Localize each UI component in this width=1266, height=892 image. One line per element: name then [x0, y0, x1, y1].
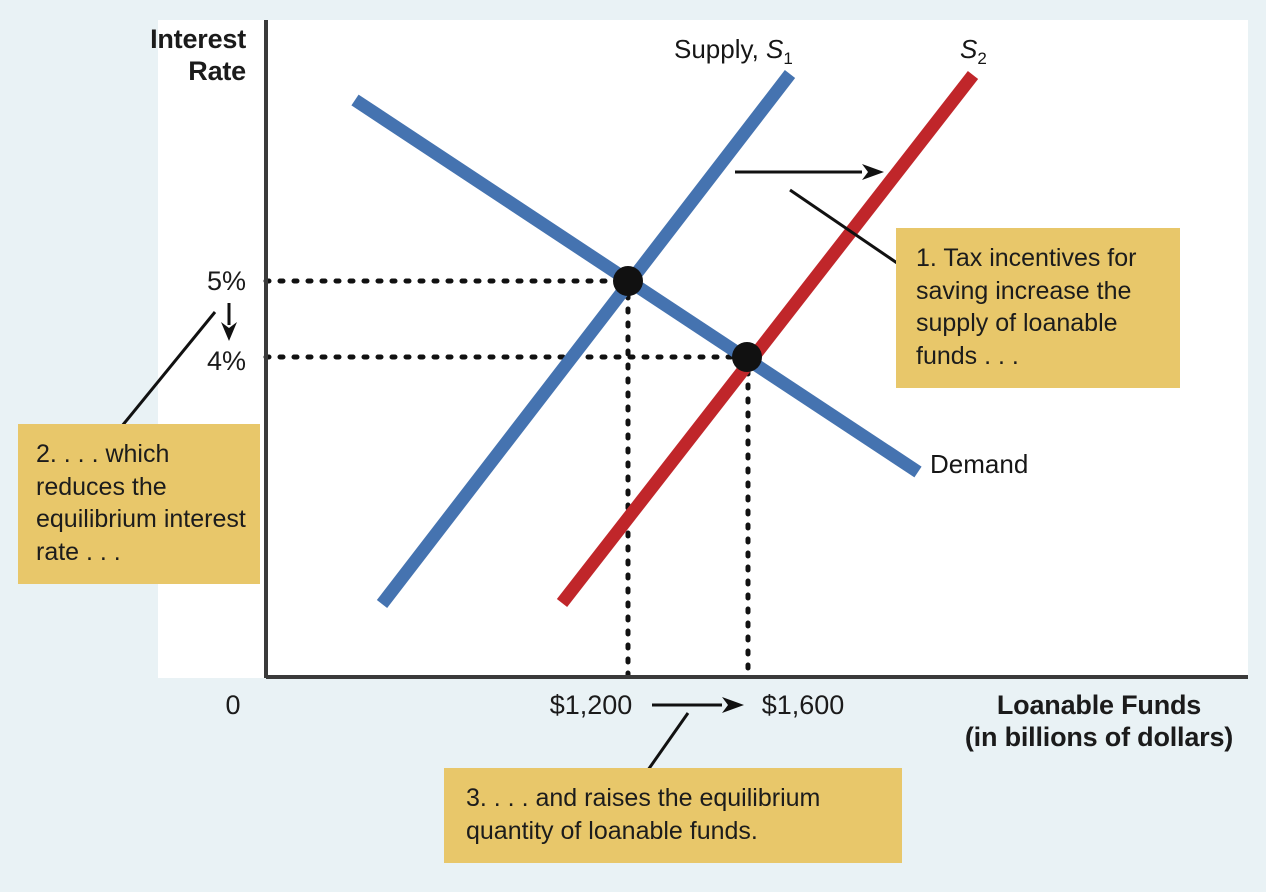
x-axis-title: Loanable Funds (in billions of dollars): [944, 690, 1254, 754]
leader-line-callout-3: [648, 713, 688, 770]
equilibrium-point-new: [732, 342, 762, 372]
origin-label: 0: [206, 690, 260, 721]
x-axis-title-line1: Loanable Funds: [944, 690, 1254, 722]
leader-line-callout-1: [790, 190, 900, 265]
supply-curve-s2-subscript: 2: [977, 49, 986, 68]
y-tick-label-5pct: 5%: [150, 266, 246, 297]
demand-curve-label: Demand: [930, 449, 1028, 480]
supply-shift-arrow: [735, 164, 884, 180]
figure-canvas: Interest Rate Loanable Funds (in billion…: [0, 0, 1266, 892]
callout-tax-incentives: 1. Tax incentives for saving increase th…: [896, 228, 1180, 388]
guide-lines: [266, 281, 748, 678]
equilibrium-point-initial: [613, 266, 643, 296]
y-tick-label-4pct: 4%: [150, 346, 246, 377]
y-axis-title: Interest Rate: [60, 24, 246, 88]
callout-reduces-interest-rate: 2. . . . which reduces the equilibrium i…: [18, 424, 260, 584]
supply-curve-s2-label: S2: [960, 34, 987, 69]
supply-curve-label-text: Supply,: [674, 34, 766, 64]
x-tick-label-1200: $1,200: [536, 690, 646, 721]
supply-curve-label: Supply, S1: [674, 34, 793, 69]
y-axis-title-line1: Interest: [60, 24, 246, 56]
rate-decrease-arrow: [221, 303, 237, 341]
callout-raises-quantity: 3. . . . and raises the equilibrium quan…: [444, 768, 902, 863]
supply-curve-label-subscript: 1: [783, 49, 792, 68]
supply-curve-s2-symbol: S: [960, 34, 977, 64]
y-axis-title-line2: Rate: [60, 56, 246, 88]
x-tick-label-1600: $1,600: [748, 690, 858, 721]
supply-curve-label-symbol: S: [766, 34, 783, 64]
x-axis-title-line2: (in billions of dollars): [944, 722, 1254, 754]
quantity-increase-arrow: [652, 697, 744, 713]
